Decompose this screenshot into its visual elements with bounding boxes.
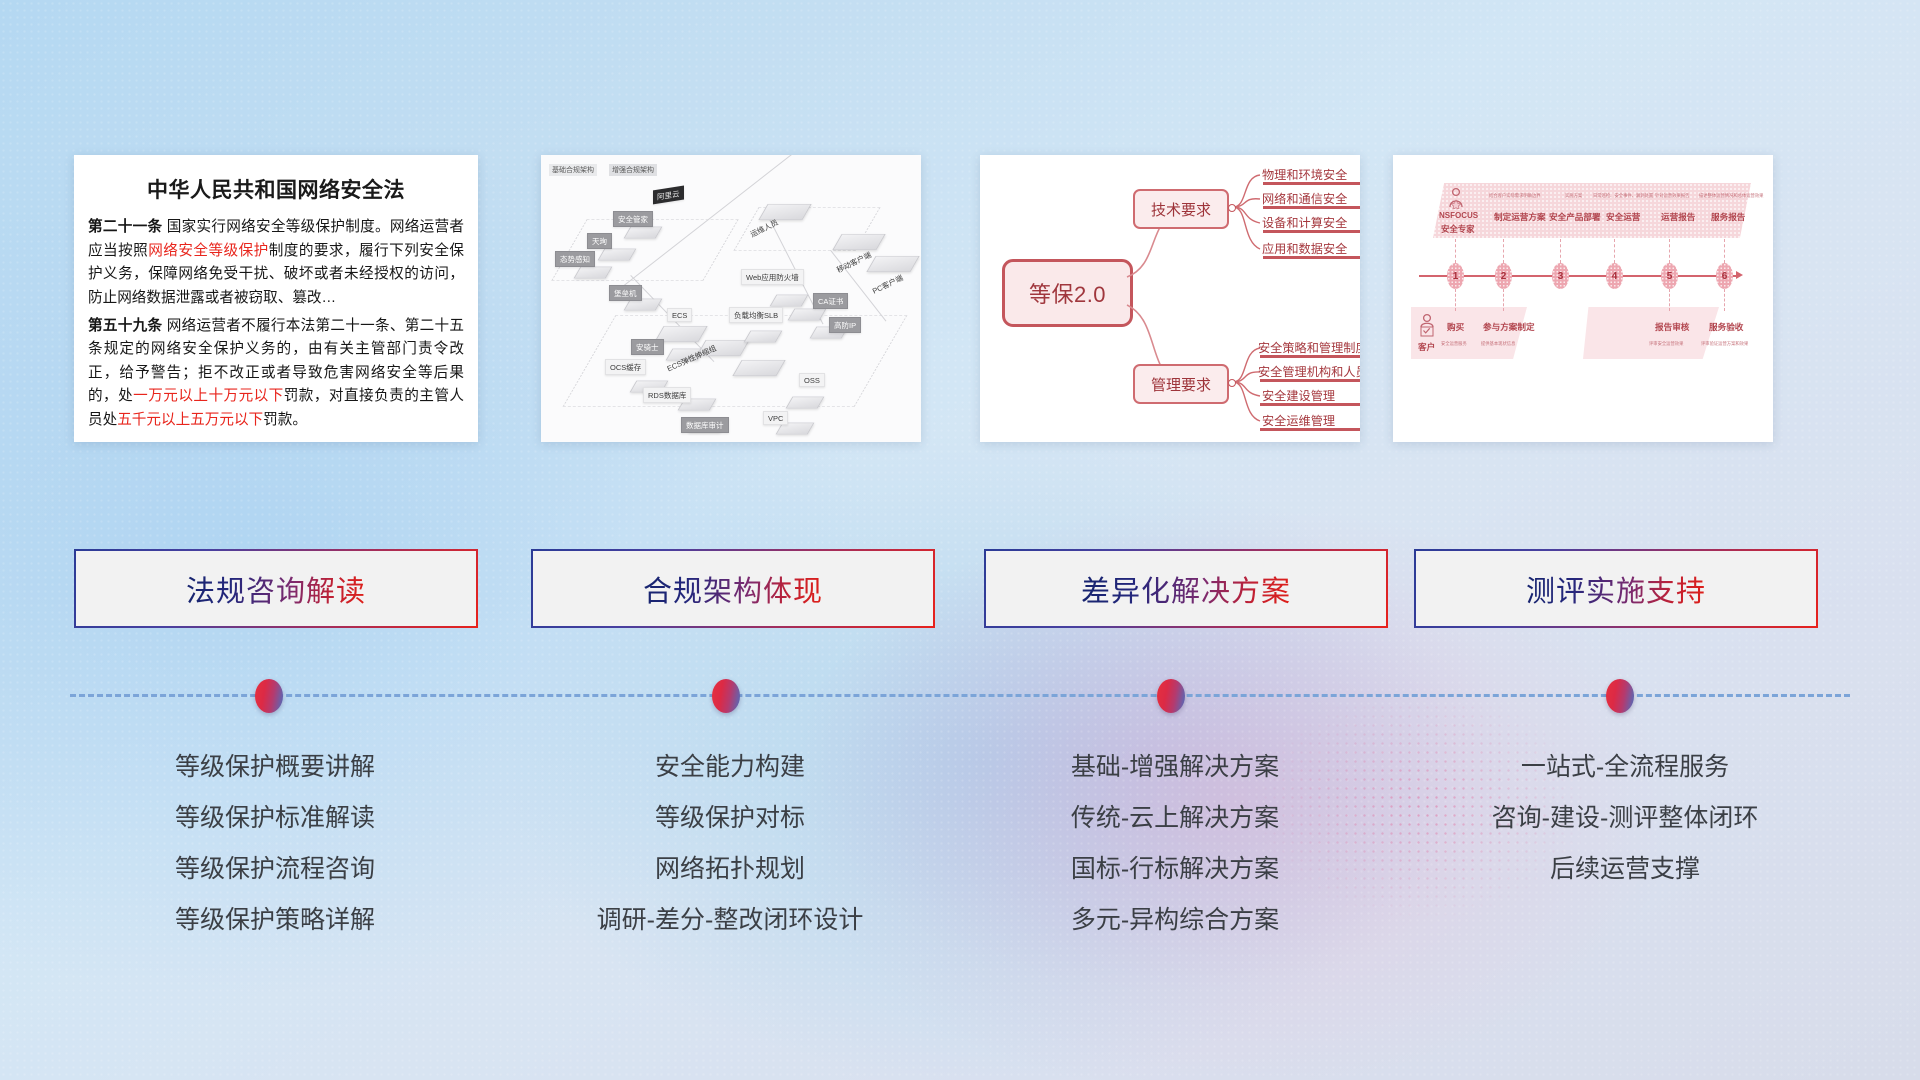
arch-label-anqishi: 安骑士 xyxy=(631,339,664,355)
timeline-step-node[interactable]: 1 xyxy=(1447,263,1464,289)
mindmap-leaf-underline xyxy=(1263,256,1360,259)
arch-label-tianxun: 安全管家 xyxy=(613,211,653,227)
mindmap-leaf-underline xyxy=(1263,206,1360,209)
mindmap-leaf: 网络和通信安全 xyxy=(1262,189,1347,207)
timeline-leader xyxy=(1503,289,1505,311)
detail-item: 等级保护流程咨询 xyxy=(65,844,485,895)
arch-label-ecs: ECS xyxy=(667,308,692,322)
law-article-number: 第五十九条 xyxy=(88,318,162,334)
arch-label-rds: RDS数据库 xyxy=(643,387,691,403)
law-paragraph: 第五十九条 网络运营者不履行本法第二十一条、第二十五条规定的网络安全保护义务的，… xyxy=(88,315,464,433)
mindmap-leaf: 安全策略和管理制度 xyxy=(1258,338,1360,356)
law-paragraph: 第二十一条 国家实行网络安全等级保护制度。网络运营者应当按照网络安全等级保护制度… xyxy=(88,216,464,311)
arch-label-slb: 负载均衡SLB xyxy=(729,307,783,323)
nsfocus-bottom-sub: 提供基本现状信息 xyxy=(1481,341,1515,347)
mindmap-card: 等保2.0 技术要求 管理要求 物理和环境安全 网络和通信安全 设备和计算安全 … xyxy=(980,155,1360,442)
detail-item: 国标-行标解决方案 xyxy=(965,844,1385,895)
stage-title-label: 合规架构体现 xyxy=(643,568,823,610)
arch-node xyxy=(788,309,827,321)
arch-label-pc-client: PC客户端 xyxy=(866,269,909,300)
mindmap-connector-dot xyxy=(1228,204,1236,212)
nsfocus-top-label: 安全产品部署 xyxy=(1549,211,1601,223)
nsfocus-timeline-card: NSFOCUS 安全专家 结合客户实际需求明确边界 制定运营方案 实施方案 安全… xyxy=(1393,155,1773,442)
timeline-leader xyxy=(1724,289,1726,311)
nsfocus-top-label: 安全运营 xyxy=(1606,211,1640,223)
arch-node xyxy=(744,331,783,343)
law-seg-highlight: 一万元以上十万元以下 xyxy=(133,388,284,404)
timeline-arrow-icon xyxy=(1736,271,1743,279)
arch-label-waf: Web应用防火墙 xyxy=(741,269,804,285)
customer-person-icon xyxy=(1417,313,1437,339)
stage-title-label: 测评实施支持 xyxy=(1526,568,1706,610)
mindmap-canvas: 等保2.0 技术要求 管理要求 物理和环境安全 网络和通信安全 设备和计算安全 … xyxy=(980,155,1360,442)
arch-label-dbaudit: 数据库审计 xyxy=(681,417,729,433)
timeline-step-node[interactable]: 4 xyxy=(1606,263,1623,289)
arch-node xyxy=(786,397,825,409)
detail-item: 调研-差分-整改闭环设计 xyxy=(520,895,940,946)
nsfocus-top-label: 服务报告 xyxy=(1711,211,1745,223)
arch-tag-basic: 基础合规架构 xyxy=(549,164,597,176)
mindmap-branch-management: 管理要求 xyxy=(1133,364,1229,404)
arch-node xyxy=(574,267,613,279)
timeline-step-node[interactable]: 3 xyxy=(1552,263,1569,289)
arch-label-ca: CA证书 xyxy=(813,293,848,309)
mindmap-leaf: 安全运维管理 xyxy=(1262,411,1335,429)
arch-label-bastion: 堡垒机 xyxy=(609,285,642,301)
nsfocus-top-sub: 描述整体运营情况和总体运营效果 xyxy=(1699,193,1763,199)
nsfocus-canvas: NSFOCUS 安全专家 结合客户实际需求明确边界 制定运营方案 实施方案 安全… xyxy=(1393,155,1773,442)
nsfocus-top-label: 运营报告 xyxy=(1661,211,1695,223)
architecture-diagram-card: 基础合规架构 增强合规架构 阿里云 安全管家 天珣 xyxy=(541,155,921,442)
nsfocus-expert-label: 安全专家 xyxy=(1441,223,1475,235)
mindmap-leaf: 物理和环境安全 xyxy=(1262,165,1347,183)
detail-item: 后续运营支撑 xyxy=(1415,844,1835,895)
detail-item: 等级保护概要讲解 xyxy=(65,742,485,793)
arch-label-mobile-client: 移动客户端 xyxy=(830,246,877,279)
arch-label-ocs: OCS缓存 xyxy=(605,359,646,375)
mindmap-leaf: 设备和计算安全 xyxy=(1262,213,1347,231)
arch-label-oss: OSS xyxy=(799,373,825,387)
nsfocus-top-label: 制定运营方案 xyxy=(1494,211,1546,223)
architecture-canvas: 基础合规架构 增强合规架构 阿里云 安全管家 天珣 xyxy=(541,155,921,442)
nsfocus-bottom-sub: 评审安全运营效果 xyxy=(1649,341,1683,347)
mindmap-leaf-underline xyxy=(1260,428,1360,431)
arch-label-situation: 态势感知 xyxy=(555,251,595,267)
law-document-card: 中华人民共和国网络安全法 第二十一条 国家实行网络安全等级保护制度。网络运营者应… xyxy=(74,155,478,442)
timeline-leader xyxy=(1455,289,1457,311)
timeline-marker-dot-1 xyxy=(255,679,283,713)
arch-node xyxy=(732,360,785,376)
detail-item: 安全能力构建 xyxy=(520,742,940,793)
nsfocus-top-sub: 针对运营效果报告 xyxy=(1655,193,1689,199)
stage-title-label: 差异化解决方案 xyxy=(1081,568,1291,610)
arch-label-gaofangip: 高防IP xyxy=(829,317,861,333)
stage-title-label: 法规咨询解读 xyxy=(186,568,366,610)
law-card-title: 中华人民共和国网络安全法 xyxy=(74,174,478,204)
detail-item: 网络拓扑规划 xyxy=(520,844,940,895)
nsfocus-bottom-label: 购买 xyxy=(1447,321,1464,333)
stage-title-box-3[interactable]: 差异化解决方案 xyxy=(984,549,1388,628)
detail-column-2: 安全能力构建 等级保护对标 网络拓扑规划 调研-差分-整改闭环设计 xyxy=(520,742,940,946)
mindmap-branch-technical: 技术要求 xyxy=(1133,189,1229,229)
mindmap-leaf-underline xyxy=(1263,182,1360,185)
nsfocus-brand-label: NSFOCUS xyxy=(1439,211,1478,220)
timeline-axis xyxy=(1419,275,1737,277)
mindmap-leaf: 安全建设管理 xyxy=(1262,386,1335,404)
detail-column-4: 一站式-全流程服务 咨询-建设-测评整体闭环 后续运营支撑 xyxy=(1415,742,1835,895)
nsfocus-bottom-sub: 评审验证运营方案和效果 xyxy=(1701,341,1748,347)
timeline-leader xyxy=(1614,239,1616,263)
nsfocus-bottom-right-band xyxy=(1583,307,1719,359)
arch-node xyxy=(832,234,885,250)
timeline-leader xyxy=(1669,289,1671,311)
mindmap-leaf-underline xyxy=(1260,403,1360,406)
law-seg-highlight: 五千元以上五万元以下 xyxy=(117,412,263,428)
nsfocus-top-sub: 日常巡检、安全事件、漏洞处置 xyxy=(1593,193,1653,199)
detail-item: 等级保护标准解读 xyxy=(65,793,485,844)
mindmap-leaf-underline xyxy=(1260,355,1360,358)
nsfocus-customer-label: 客户 xyxy=(1418,341,1435,353)
arch-tag-enhanced: 增强合规架构 xyxy=(609,164,657,176)
nsfocus-bottom-label: 服务验收 xyxy=(1709,321,1743,333)
detail-item: 一站式-全流程服务 xyxy=(1415,742,1835,793)
nsfocus-top-sub: 结合客户实际需求明确边界 xyxy=(1489,193,1541,199)
detail-item: 传统-云上解决方案 xyxy=(965,793,1385,844)
expert-person-icon xyxy=(1445,187,1467,209)
arch-label-aliyun: 阿里云 xyxy=(653,186,684,205)
mindmap-leaf-underline xyxy=(1260,379,1360,382)
timeline-marker-dot-2 xyxy=(712,679,740,713)
timeline-step-node[interactable]: 6 xyxy=(1716,263,1733,289)
detail-column-3: 基础-增强解决方案 传统-云上解决方案 国标-行标解决方案 多元-异构综合方案 xyxy=(965,742,1385,946)
arch-label-vpc: VPC xyxy=(763,411,788,425)
nsfocus-top-sub: 实施方案 xyxy=(1565,193,1582,199)
detail-item: 基础-增强解决方案 xyxy=(965,742,1385,793)
timeline-marker-dot-3 xyxy=(1157,679,1185,713)
timeline-leader xyxy=(1503,239,1505,263)
detail-item: 等级保护对标 xyxy=(520,793,940,844)
timeline-leader xyxy=(1724,239,1726,263)
arch-node xyxy=(598,249,637,261)
timeline-leader xyxy=(1560,239,1562,263)
timeline-leader xyxy=(1455,239,1457,263)
timeline-marker-dot-4 xyxy=(1606,679,1634,713)
arch-node xyxy=(624,227,663,239)
stage-title-box-2[interactable]: 合规架构体现 xyxy=(531,549,935,628)
timeline-step-node[interactable]: 2 xyxy=(1495,263,1512,289)
law-card-body: 第二十一条 国家实行网络安全等级保护制度。网络运营者应当按照网络安全等级保护制度… xyxy=(74,216,478,433)
nsfocus-bottom-label: 报告审核 xyxy=(1655,321,1689,333)
arch-label-tianxun2: 天珣 xyxy=(587,233,612,249)
mindmap-leaf: 应用和数据安全 xyxy=(1262,239,1347,257)
arch-node xyxy=(770,295,809,307)
stage-title-box-1[interactable]: 法规咨询解读 xyxy=(74,549,478,628)
timeline-step-node[interactable]: 5 xyxy=(1661,263,1678,289)
law-seg-highlight: 网络安全等级保护 xyxy=(148,243,268,259)
detail-column-1: 等级保护概要讲解 等级保护标准解读 等级保护流程咨询 等级保护策略详解 xyxy=(65,742,485,946)
mindmap-leaf: 安全管理机构和人员 xyxy=(1258,362,1360,380)
detail-item: 咨询-建设-测评整体闭环 xyxy=(1415,793,1835,844)
stage-title-box-4[interactable]: 测评实施支持 xyxy=(1414,549,1818,628)
mindmap-leaf-underline xyxy=(1263,230,1360,233)
mindmap-connector-dot xyxy=(1228,379,1236,387)
nsfocus-bottom-label: 参与方案制定 xyxy=(1483,321,1535,333)
law-seg: 罚款。 xyxy=(263,412,307,428)
detail-item: 多元-异构综合方案 xyxy=(965,895,1385,946)
detail-item: 等级保护策略详解 xyxy=(65,895,485,946)
timeline-dashed-line xyxy=(70,694,1850,697)
nsfocus-bottom-sub: 安全运营服务 xyxy=(1441,341,1467,347)
law-article-number: 第二十一条 xyxy=(88,219,162,235)
timeline-leader xyxy=(1669,239,1671,263)
